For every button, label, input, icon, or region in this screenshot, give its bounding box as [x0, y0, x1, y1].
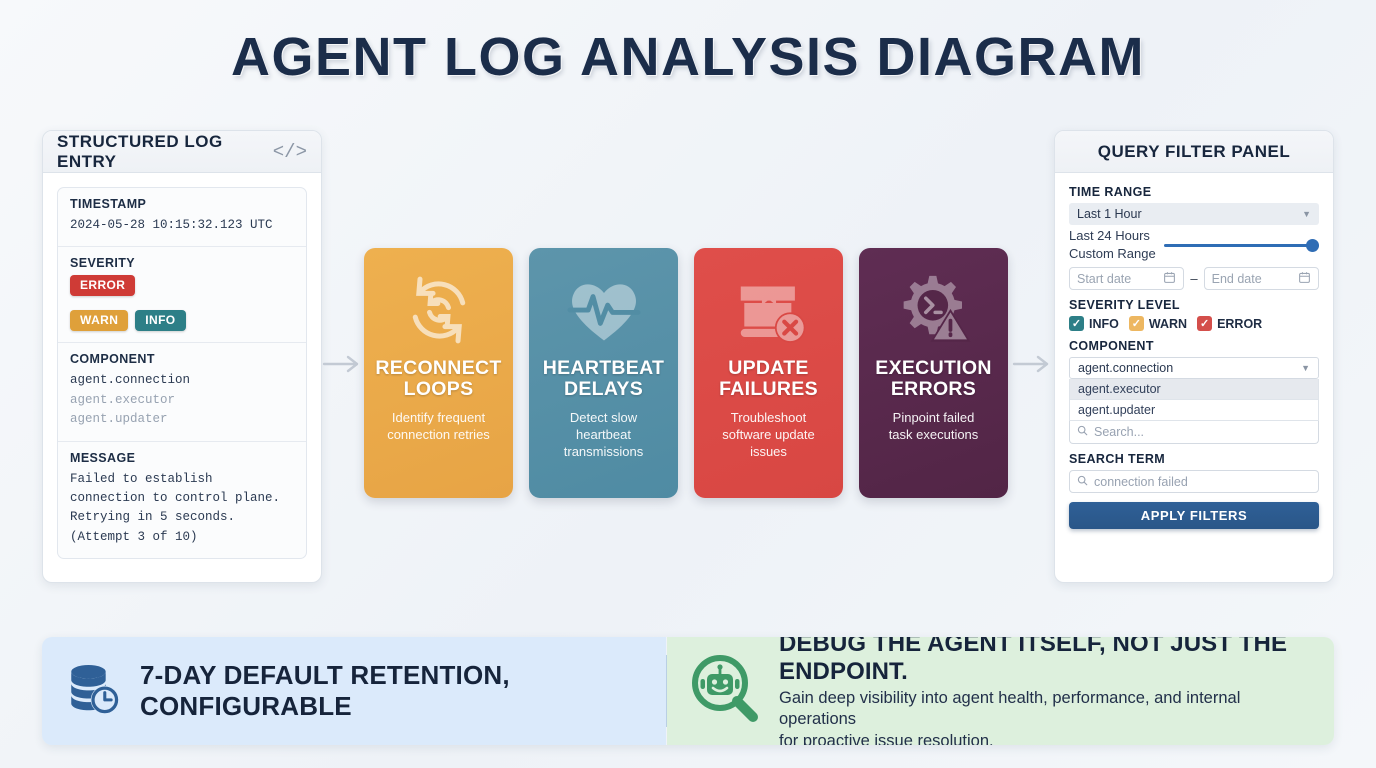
severity-badge-group: ERROR WARN INFO — [70, 275, 294, 331]
start-date-placeholder: Start date — [1077, 272, 1131, 286]
debug-banner-title: DEBUG THE AGENT ITSELF, NOT JUST THE END… — [779, 637, 1312, 686]
component-option[interactable]: agent.executor — [1069, 379, 1319, 400]
custom-date-range: Start date – End date — [1069, 267, 1319, 290]
message-line: connection to control plane. — [70, 489, 294, 508]
slider-track — [1164, 244, 1319, 247]
severity-label: SEVERITY — [70, 256, 294, 270]
timestamp-label: TIMESTAMP — [70, 197, 294, 211]
component-other-value: agent.updater — [70, 410, 294, 429]
severity-checkbox-error[interactable]: ✓ ERROR — [1197, 316, 1262, 331]
feature-card-reconnect-loops[interactable]: RECONNECT LOOPS Identify frequent connec… — [364, 248, 513, 498]
log-panel-title: STRUCTURED LOG ENTRY — [57, 132, 273, 172]
message-line: (Attempt 3 of 10) — [70, 528, 294, 547]
debug-banner: DEBUG THE AGENT ITSELF, NOT JUST THE END… — [667, 637, 1334, 745]
code-icon: </> — [273, 141, 307, 163]
apply-filters-button[interactable]: APPLY FILTERS — [1069, 502, 1319, 529]
search-term-placeholder: connection failed — [1094, 475, 1188, 489]
slider-thumb[interactable] — [1306, 239, 1319, 252]
flow-arrow-left-icon — [322, 352, 364, 381]
end-date-placeholder: End date — [1212, 272, 1262, 286]
component-select[interactable]: agent.connection ▼ — [1069, 357, 1319, 379]
time-range-extra-row: Last 24 Hours Custom Range — [1069, 227, 1319, 262]
feature-card-subtitle: Troubleshoot software update issues — [722, 409, 815, 460]
heartbeat-icon — [565, 262, 643, 358]
component-option[interactable]: agent.updater — [1069, 400, 1319, 421]
start-date-input[interactable]: Start date — [1069, 267, 1184, 290]
feature-card-subtitle: Identify frequent connection retries — [387, 409, 490, 443]
gear-warning-icon — [894, 262, 974, 358]
message-line: Retrying in 5 seconds. — [70, 508, 294, 527]
search-term-input[interactable]: connection failed — [1069, 470, 1319, 493]
search-icon — [1077, 475, 1088, 489]
time-range-label: TIME RANGE — [1069, 185, 1319, 199]
feature-card-title: RECONNECT LOOPS — [375, 358, 501, 400]
log-field-severity: SEVERITY ERROR WARN INFO — [58, 247, 306, 343]
message-label: MESSAGE — [70, 451, 294, 465]
debug-banner-subtitle: Gain deep visibility into agent health, … — [779, 688, 1312, 745]
robot-magnifier-icon — [689, 653, 761, 730]
chevron-down-icon: ▼ — [1301, 363, 1310, 373]
severity-checkbox-label: WARN — [1149, 317, 1187, 331]
calendar-icon — [1163, 271, 1176, 287]
message-line: Failed to establish — [70, 470, 294, 489]
reconnect-loops-icon — [401, 262, 477, 358]
time-range-selected-value: Last 1 Hour — [1077, 207, 1142, 221]
database-clock-icon — [64, 660, 122, 723]
log-panel-header: STRUCTURED LOG ENTRY </> — [43, 131, 321, 173]
component-label: COMPONENT — [1069, 339, 1319, 353]
page-title: AGENT LOG ANALYSIS DIAGRAM — [0, 0, 1376, 88]
severity-level-label: SEVERITY LEVEL — [1069, 298, 1319, 312]
time-range-option[interactable]: Last 24 Hours — [1069, 227, 1156, 245]
component-search-input[interactable]: Search... — [1069, 421, 1319, 444]
checkbox-checked-icon[interactable]: ✓ — [1129, 316, 1144, 331]
status-badge-warn: WARN — [70, 310, 128, 331]
checkbox-checked-icon[interactable]: ✓ — [1197, 316, 1212, 331]
log-panel-body: TIMESTAMP 2024-05-28 10:15:32.123 UTC SE… — [43, 173, 321, 575]
time-range-option[interactable]: Custom Range — [1069, 245, 1156, 263]
diagram-stage: STRUCTURED LOG ENTRY </> TIMESTAMP 2024-… — [42, 130, 1334, 585]
feature-card-update-failures[interactable]: UPDATE FAILURES Troubleshoot software up… — [694, 248, 843, 498]
end-date-input[interactable]: End date — [1204, 267, 1319, 290]
feature-card-heartbeat-delays[interactable]: HEARTBEAT DELAYS Detect slow heartbeat t… — [529, 248, 678, 498]
bottom-banner-row: 7-DAY DEFAULT RETENTION, CONFIGURABLE — [42, 637, 1334, 745]
severity-checkbox-label: ERROR — [1217, 317, 1262, 331]
package-error-icon — [729, 262, 809, 358]
retention-banner: 7-DAY DEFAULT RETENTION, CONFIGURABLE — [42, 637, 666, 745]
component-primary-value: agent.connection — [70, 371, 294, 390]
log-field-timestamp: TIMESTAMP 2024-05-28 10:15:32.123 UTC — [58, 188, 306, 247]
log-field-message: MESSAGE Failed to establish connection t… — [58, 442, 306, 559]
component-selected-value: agent.connection — [1078, 361, 1173, 375]
feature-card-subtitle: Pinpoint failed task executions — [889, 409, 979, 443]
chevron-down-icon: ▼ — [1302, 209, 1311, 219]
status-badge-info: INFO — [135, 310, 185, 331]
feature-card-title: UPDATE FAILURES — [719, 358, 818, 400]
search-icon — [1077, 425, 1088, 439]
search-term-label: SEARCH TERM — [1069, 452, 1319, 466]
calendar-icon — [1298, 271, 1311, 287]
component-search-placeholder: Search... — [1094, 425, 1144, 439]
severity-checkbox-group: ✓ INFO ✓ WARN ✓ ERROR — [1069, 316, 1319, 331]
severity-checkbox-info[interactable]: ✓ INFO — [1069, 316, 1119, 331]
query-filter-panel: QUERY FILTER PANEL TIME RANGE Last 1 Hou… — [1054, 130, 1334, 583]
feature-card-title: EXECUTION ERRORS — [875, 358, 991, 400]
debug-banner-text: DEBUG THE AGENT ITSELF, NOT JUST THE END… — [779, 637, 1312, 745]
filter-panel-body: TIME RANGE Last 1 Hour ▼ Last 24 Hours C… — [1055, 173, 1333, 541]
structured-log-entry-panel: STRUCTURED LOG ENTRY </> TIMESTAMP 2024-… — [42, 130, 322, 583]
log-field-component: COMPONENT agent.connection agent.executo… — [58, 343, 306, 441]
severity-checkbox-label: INFO — [1089, 317, 1119, 331]
checkbox-checked-icon[interactable]: ✓ — [1069, 316, 1084, 331]
component-label: COMPONENT — [70, 352, 294, 366]
feature-card-subtitle: Detect slow heartbeat transmissions — [564, 409, 643, 460]
retention-banner-title: 7-DAY DEFAULT RETENTION, CONFIGURABLE — [140, 660, 644, 722]
filter-panel-title: QUERY FILTER PANEL — [1098, 142, 1291, 162]
component-other-value: agent.executor — [70, 391, 294, 410]
feature-card-row: RECONNECT LOOPS Identify frequent connec… — [364, 248, 1008, 498]
status-badge-error: ERROR — [70, 275, 135, 296]
time-range-slider[interactable] — [1164, 238, 1319, 252]
time-range-select[interactable]: Last 1 Hour ▼ — [1069, 203, 1319, 225]
severity-checkbox-warn[interactable]: ✓ WARN — [1129, 316, 1187, 331]
filter-panel-header: QUERY FILTER PANEL — [1055, 131, 1333, 173]
timestamp-value: 2024-05-28 10:15:32.123 UTC — [70, 216, 294, 235]
flow-arrow-right-icon — [1012, 352, 1054, 381]
log-entry-card: TIMESTAMP 2024-05-28 10:15:32.123 UTC SE… — [57, 187, 307, 559]
time-range-options: Last 24 Hours Custom Range — [1069, 227, 1156, 262]
feature-card-execution-errors[interactable]: EXECUTION ERRORS Pinpoint failed task ex… — [859, 248, 1008, 498]
date-range-separator: – — [1190, 271, 1197, 286]
feature-card-title: HEARTBEAT DELAYS — [543, 358, 665, 400]
